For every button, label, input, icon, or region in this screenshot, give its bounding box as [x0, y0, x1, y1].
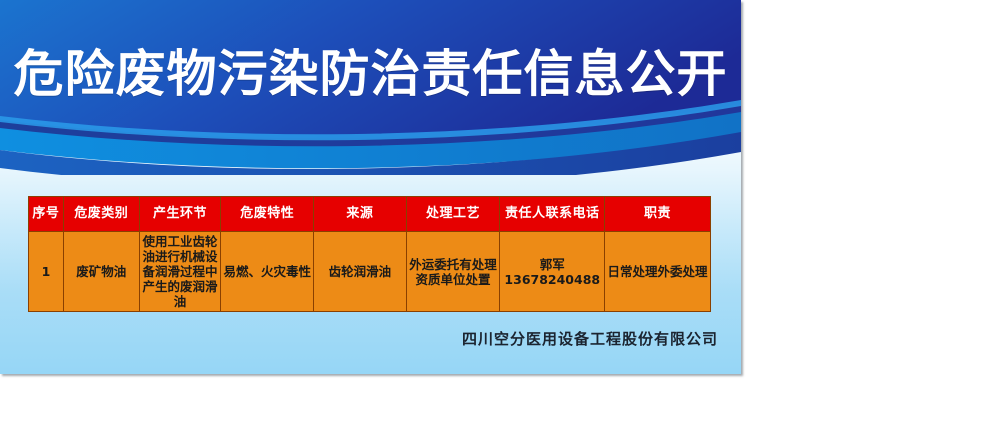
- company-name: 四川空分医用设备工程股份有限公司: [0, 328, 718, 349]
- cell-stage: 使用工业齿轮油进行机械设备润滑过程中产生的废润滑油: [139, 232, 221, 312]
- column-header-characteristic: 危废特性: [221, 197, 314, 232]
- page-title: 危险废物污染防治责任信息公开: [0, 44, 741, 104]
- cell-duty: 日常处理外委处理: [605, 232, 711, 312]
- cell-characteristic: 易燃、火灾毒性: [221, 232, 314, 312]
- column-header-source: 来源: [314, 197, 407, 232]
- column-header-process: 处理工艺: [406, 197, 500, 232]
- column-header-category: 危废类别: [63, 197, 139, 232]
- cell-source: 齿轮润滑油: [314, 232, 407, 312]
- table-row: 1 废矿物油 使用工业齿轮油进行机械设备润滑过程中产生的废润滑油 易燃、火灾毒性…: [29, 232, 711, 312]
- contact-name: 郭军: [502, 257, 602, 272]
- poster-banner: 危险废物污染防治责任信息公开: [0, 0, 741, 175]
- cell-seq: 1: [29, 232, 64, 312]
- contact-phone: 13678240488: [502, 272, 602, 287]
- cell-contact: 郭军 13678240488: [500, 232, 605, 312]
- table-header-row: 序号 危废类别 产生环节 危废特性 来源 处理工艺 责任人联系电话 职责: [29, 197, 711, 232]
- cell-category: 废矿物油: [63, 232, 139, 312]
- column-header-seq: 序号: [29, 197, 64, 232]
- cell-process: 外运委托有处理资质单位处置: [406, 232, 500, 312]
- hazardous-waste-table: 序号 危废类别 产生环节 危废特性 来源 处理工艺 责任人联系电话 职责 1 废…: [28, 196, 711, 312]
- column-header-stage: 产生环节: [139, 197, 221, 232]
- column-header-contact: 责任人联系电话: [500, 197, 605, 232]
- column-header-duty: 职责: [605, 197, 711, 232]
- information-poster: 危险废物污染防治责任信息公开 序号 危废类别 产生环节 危废特性 来源 处理工艺…: [0, 0, 741, 374]
